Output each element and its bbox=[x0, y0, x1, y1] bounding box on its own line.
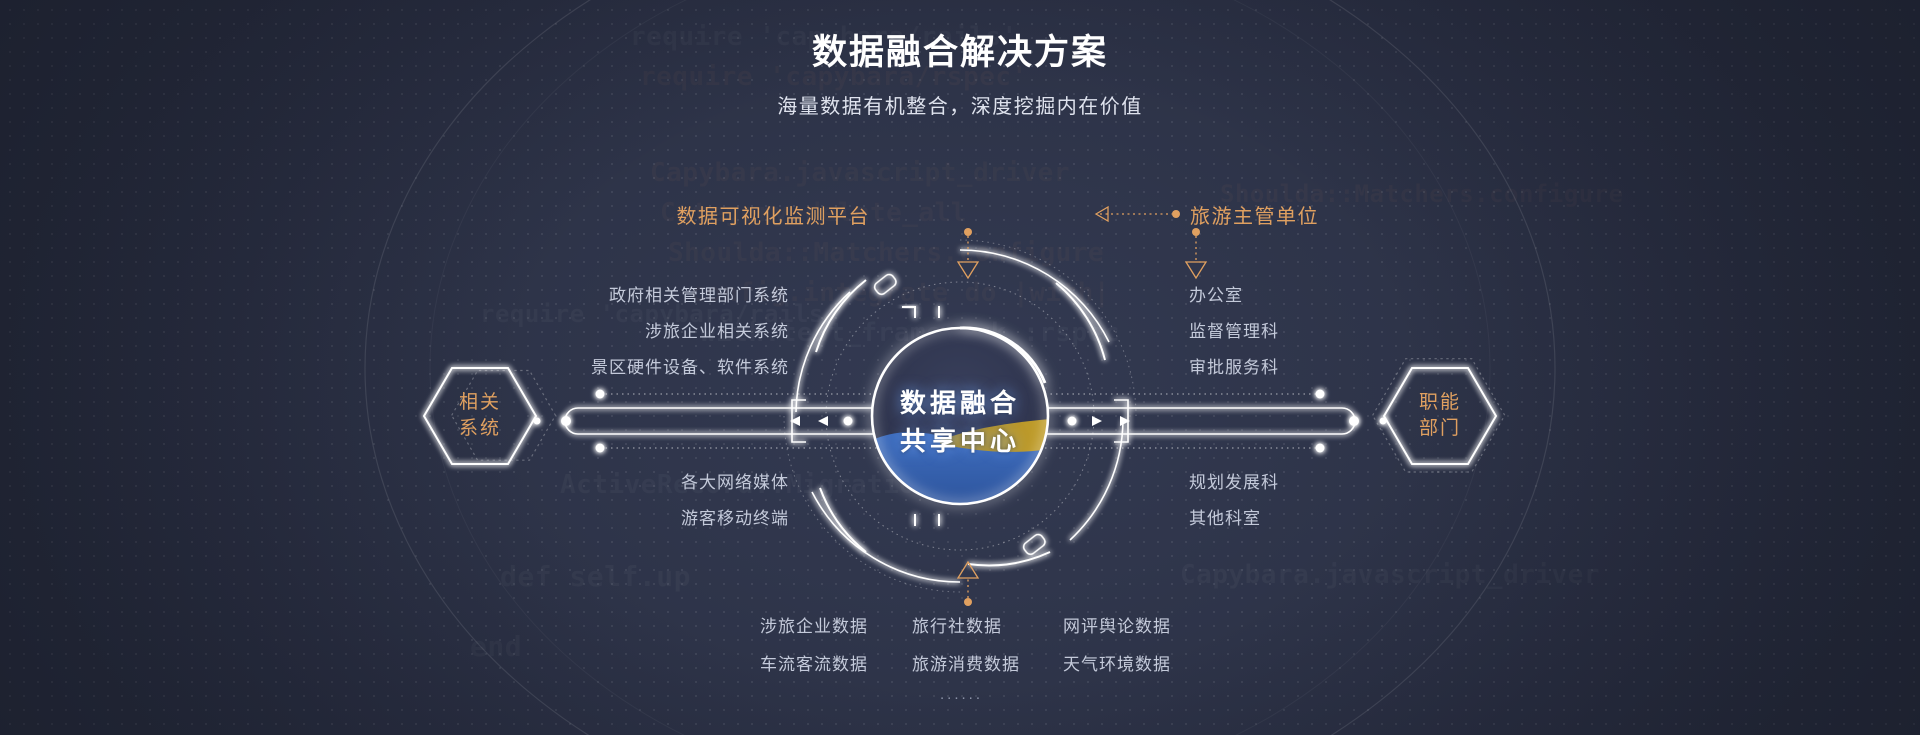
right-hexagon-label-line1: 职能 bbox=[1380, 390, 1500, 416]
right-hexagon-label-line2: 部门 bbox=[1380, 416, 1500, 442]
diagram-canvas: require 'capybara/rails' require 'capyba… bbox=[0, 0, 1920, 735]
bottom-item-3[interactable]: 车流客流数据 bbox=[760, 650, 868, 675]
center-core-line2: 共享中心 bbox=[860, 423, 1060, 461]
top-horizontal-orange-connector bbox=[1096, 207, 1180, 221]
bottom-ellipsis: ...... bbox=[940, 686, 983, 703]
center-core-line1: 数据融合 bbox=[860, 385, 1060, 423]
bottom-orange-connector bbox=[958, 562, 978, 606]
right-item-3[interactable]: 规划发展科 bbox=[1189, 468, 1279, 493]
right-item-4[interactable]: 其他科室 bbox=[1189, 504, 1261, 529]
page-title: 数据融合解决方案 bbox=[0, 30, 1920, 76]
bottom-item-5[interactable]: 天气环境数据 bbox=[1063, 650, 1171, 675]
bottom-item-4[interactable]: 旅游消费数据 bbox=[912, 650, 1020, 675]
left-item-4[interactable]: 游客移动终端 bbox=[681, 504, 789, 529]
left-item-2[interactable]: 景区硬件设备、软件系统 bbox=[591, 353, 789, 378]
bottom-item-2[interactable]: 网评舆论数据 bbox=[1063, 612, 1171, 637]
bottom-item-1[interactable]: 旅行社数据 bbox=[912, 612, 1002, 637]
left-item-1[interactable]: 涉旅企业相关系统 bbox=[645, 317, 789, 342]
right-hexagon-label[interactable]: 职能 部门 bbox=[1380, 390, 1500, 441]
left-item-3[interactable]: 各大网络媒体 bbox=[681, 468, 789, 493]
page-header: 数据融合解决方案 海量数据有机整合，深度挖掘内在价值 bbox=[0, 30, 1920, 119]
center-core-label: 数据融合 共享中心 bbox=[860, 385, 1060, 460]
right-item-0[interactable]: 办公室 bbox=[1189, 281, 1243, 306]
right-item-2[interactable]: 审批服务科 bbox=[1189, 353, 1279, 378]
left-item-0[interactable]: 政府相关管理部门系统 bbox=[609, 281, 789, 306]
left-hexagon-label[interactable]: 相关 系统 bbox=[420, 390, 540, 441]
bottom-item-0[interactable]: 涉旅企业数据 bbox=[760, 612, 868, 637]
page-subtitle: 海量数据有机整合，深度挖掘内在价值 bbox=[0, 90, 1920, 119]
left-hexagon-label-line2: 系统 bbox=[420, 416, 540, 442]
right-item-1[interactable]: 监督管理科 bbox=[1189, 317, 1279, 342]
label-visualization-platform[interactable]: 数据可视化监测平台 bbox=[677, 200, 871, 229]
label-tourism-authority[interactable]: 旅游主管单位 bbox=[1190, 200, 1319, 229]
top-left-orange-connector bbox=[958, 228, 978, 278]
left-hexagon-label-line1: 相关 bbox=[420, 390, 540, 416]
top-right-orange-connector bbox=[1186, 228, 1206, 278]
